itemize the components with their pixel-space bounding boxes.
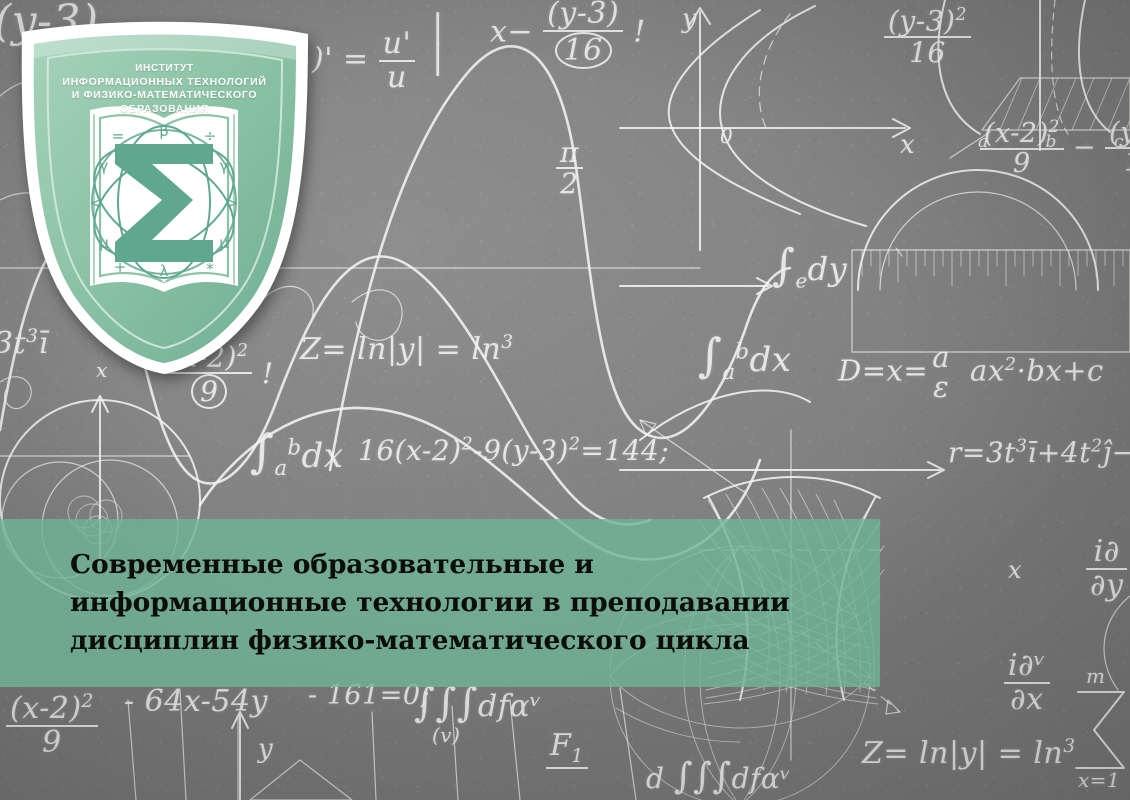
symbol-less: < xyxy=(90,194,103,212)
symbol-lambda: λ xyxy=(160,262,169,280)
symbol-mu-l: μ xyxy=(99,234,109,252)
symbol-divide: ÷ xyxy=(204,127,217,145)
institute-shield-emblem: = β ÷ γ γ < > μ μ + λ * ИНСТИТУТ ИНФОРМА… xyxy=(12,14,317,376)
page-title: Современные образовательные и информацио… xyxy=(0,546,880,660)
hero-banner-image: (y-3) 16 )' = u'u || x− (y-3)16 ! π2 y 0… xyxy=(0,0,1130,800)
symbol-gamma-l: γ xyxy=(100,157,109,175)
symbol-plus: + xyxy=(114,258,127,276)
title-banner: Современные образовательные и информацио… xyxy=(0,519,880,687)
symbol-greater: > xyxy=(226,194,239,212)
symbol-mu-r: μ xyxy=(219,234,229,252)
symbol-gamma-r: γ xyxy=(220,157,229,175)
symbol-asterisk: * xyxy=(206,260,214,278)
symbol-equals: = xyxy=(112,127,125,145)
symbol-beta: β xyxy=(159,122,169,140)
